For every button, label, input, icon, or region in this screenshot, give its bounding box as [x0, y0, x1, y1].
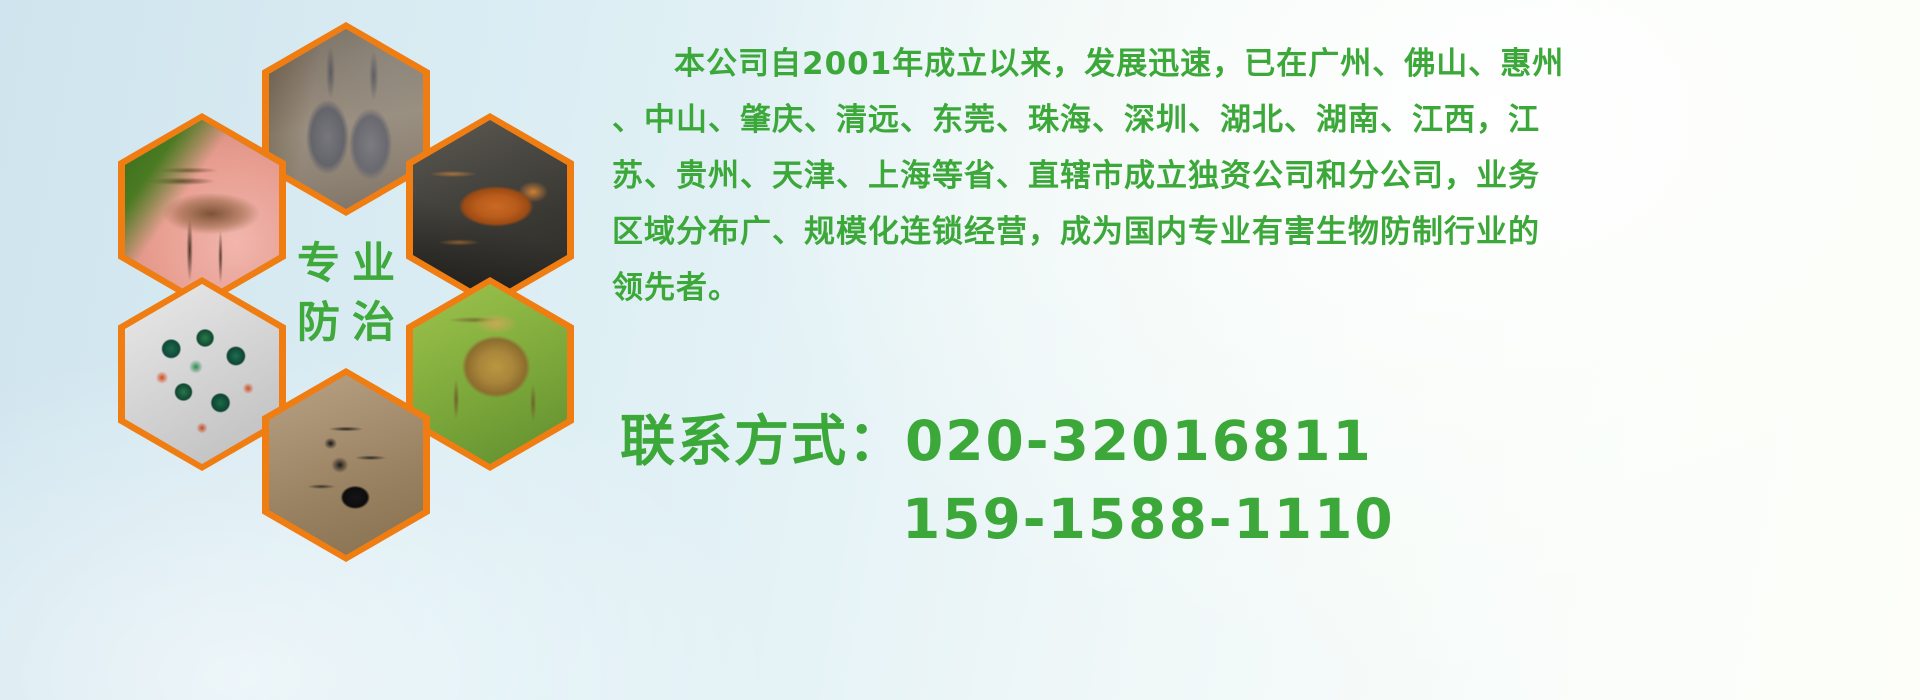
hex-center-clip: 专业 防治 — [248, 181, 444, 407]
description-line-1: 本公司自2001年成立以来，发展迅速，已在广州、佛山、惠州 — [612, 36, 1912, 92]
logo-slogan: 专业 防治 — [248, 181, 444, 407]
description-line-2: 、中山、肇庆、清远、东莞、珠海、深圳、湖北、湖南、江西，江 — [612, 92, 1912, 148]
pest-control-banner: 专业 防治 本公司自2001年成立以来，发展迅速，已在广州、佛山、惠州 、中山、… — [0, 0, 1920, 700]
contact-landline: 联系方式：020-32016811 — [620, 402, 1920, 480]
description-line-3: 苏、贵州、天津、上海等省、直辖市成立独资公司和分公司，业务 — [612, 148, 1912, 204]
description-line-5: 领先者。 — [612, 260, 1912, 316]
hex-center-label: 专业 防治 — [248, 181, 444, 407]
honeycomb-logo: 专业 防治 — [0, 0, 620, 700]
company-description: 本公司自2001年成立以来，发展迅速，已在广州、佛山、惠州 、中山、肇庆、清远、… — [612, 36, 1912, 316]
logo-slogan-line2: 防治 — [285, 302, 407, 345]
contact-block: 联系方式：020-32016811 159-1588-1110 — [620, 402, 1920, 558]
logo-slogan-line1: 专业 — [285, 243, 407, 286]
contact-mobile: 159-1588-1110 — [620, 480, 1920, 558]
description-line-4: 区域分布广、规模化连锁经营，成为国内专业有害生物防制行业的 — [612, 204, 1912, 260]
